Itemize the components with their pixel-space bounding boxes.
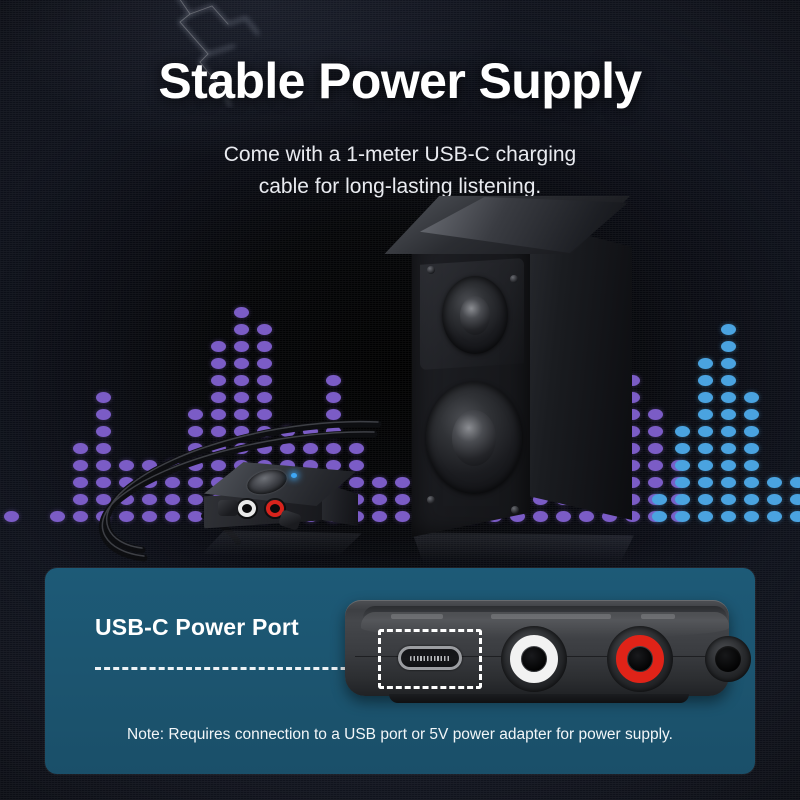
equalizer-dot — [721, 409, 736, 420]
equalizer-dot — [257, 341, 272, 352]
equalizer-dot — [790, 477, 800, 488]
equalizer-column — [790, 477, 800, 528]
rca-red-ring — [616, 635, 664, 683]
equalizer-dot — [234, 307, 249, 318]
equalizer-column — [4, 511, 19, 528]
speaker-screw — [511, 506, 519, 514]
equalizer-dot — [698, 460, 713, 471]
equalizer-dot — [698, 511, 713, 522]
page-title: Stable Power Supply — [0, 52, 800, 110]
callout-label: USB-C Power Port — [95, 614, 299, 641]
equalizer-dot — [744, 460, 759, 471]
equalizer-dot — [211, 375, 226, 386]
equalizer-dot — [257, 375, 272, 386]
equalizer-dot — [234, 358, 249, 369]
equalizer-dot — [698, 477, 713, 488]
rca-white-hole — [522, 647, 546, 671]
equalizer-dot — [790, 494, 800, 505]
equalizer-dot — [675, 511, 690, 522]
equalizer-column — [767, 477, 782, 528]
page-subtitle: Come with a 1-meter USB-C charging cable… — [0, 139, 800, 202]
speaker-side-panel — [528, 220, 632, 520]
equalizer-dot — [675, 426, 690, 437]
equalizer-dot — [675, 477, 690, 488]
equalizer-dot — [50, 511, 65, 522]
equalizer-dot — [721, 341, 736, 352]
equalizer-right — [650, 228, 800, 528]
speaker-screw — [510, 275, 518, 283]
equalizer-dot — [767, 511, 782, 522]
equalizer-dot — [698, 409, 713, 420]
equalizer-dot — [652, 494, 667, 505]
callout-note: Note: Requires connection to a USB port … — [45, 726, 755, 744]
rca-right-red-jack — [607, 626, 673, 692]
equalizer-dot — [211, 358, 226, 369]
equalizer-column — [721, 324, 736, 528]
equalizer-dot — [211, 392, 226, 403]
equalizer-dot — [698, 375, 713, 386]
equalizer-dot — [211, 341, 226, 352]
equalizer-dot — [721, 443, 736, 454]
device-label-mark — [641, 614, 675, 619]
equalizer-dot — [234, 375, 249, 386]
equalizer-column — [744, 392, 759, 528]
equalizer-dot — [721, 324, 736, 335]
speaker-screw — [427, 266, 435, 274]
equalizer-dot — [326, 375, 341, 386]
equalizer-dot — [234, 324, 249, 335]
speaker-screw — [427, 496, 435, 504]
equalizer-dot — [257, 392, 272, 403]
speaker-tweeter — [442, 276, 508, 354]
equalizer-dot — [675, 460, 690, 471]
equalizer-dot — [257, 358, 272, 369]
equalizer-column — [652, 494, 667, 528]
equalizer-dot — [698, 494, 713, 505]
equalizer-dot — [767, 494, 782, 505]
equalizer-dot — [721, 477, 736, 488]
equalizer-dot — [721, 358, 736, 369]
equalizer-dot — [744, 494, 759, 505]
receiver-status-led — [291, 473, 297, 478]
rca-red-hole — [628, 647, 652, 671]
equalizer-dot — [698, 426, 713, 437]
equalizer-dot — [744, 477, 759, 488]
equalizer-dot — [790, 511, 800, 522]
device-label-mark — [491, 614, 611, 619]
receiver-rca-white-jack — [236, 498, 258, 519]
equalizer-dot — [698, 392, 713, 403]
equalizer-column — [675, 426, 690, 528]
equalizer-column — [50, 511, 65, 528]
equalizer-dot — [234, 341, 249, 352]
bookshelf-speaker-icon — [398, 196, 648, 556]
device-port-closeup — [337, 590, 737, 708]
equalizer-dot — [234, 392, 249, 403]
equalizer-dot — [698, 443, 713, 454]
equalizer-dot — [257, 324, 272, 335]
receiver-cable-plug — [218, 500, 238, 516]
aux-jack-hole — [715, 646, 741, 672]
bluetooth-receiver-icon — [196, 462, 366, 552]
equalizer-dot — [744, 511, 759, 522]
subtitle-line-1: Come with a 1-meter USB-C charging — [0, 139, 800, 171]
equalizer-dot — [96, 392, 111, 403]
equalizer-dot — [652, 511, 667, 522]
equalizer-dot — [698, 358, 713, 369]
equalizer-dot — [744, 426, 759, 437]
rca-left-white-jack — [501, 626, 567, 692]
product-marketing-image: Stable Power Supply Come with a 1-meter … — [0, 0, 800, 800]
equalizer-dot — [721, 426, 736, 437]
equalizer-dot — [4, 511, 19, 522]
equalizer-dot — [721, 392, 736, 403]
equalizer-dot — [721, 511, 736, 522]
equalizer-dot — [326, 392, 341, 403]
equalizer-column — [698, 358, 713, 528]
rca-white-ring — [510, 635, 558, 683]
equalizer-dot — [721, 375, 736, 386]
usb-c-highlight-box — [378, 629, 482, 689]
equalizer-dot — [744, 409, 759, 420]
equalizer-dot — [675, 494, 690, 505]
equalizer-dot — [767, 477, 782, 488]
equalizer-dot — [744, 443, 759, 454]
device-body — [345, 600, 729, 696]
equalizer-dot — [721, 494, 736, 505]
equalizer-dot — [675, 443, 690, 454]
aux-3-5mm-jack — [705, 636, 751, 682]
device-base-foot — [389, 694, 689, 703]
device-label-mark — [391, 614, 443, 619]
equalizer-dot — [721, 460, 736, 471]
equalizer-dot — [744, 392, 759, 403]
speaker-woofer — [426, 382, 522, 494]
